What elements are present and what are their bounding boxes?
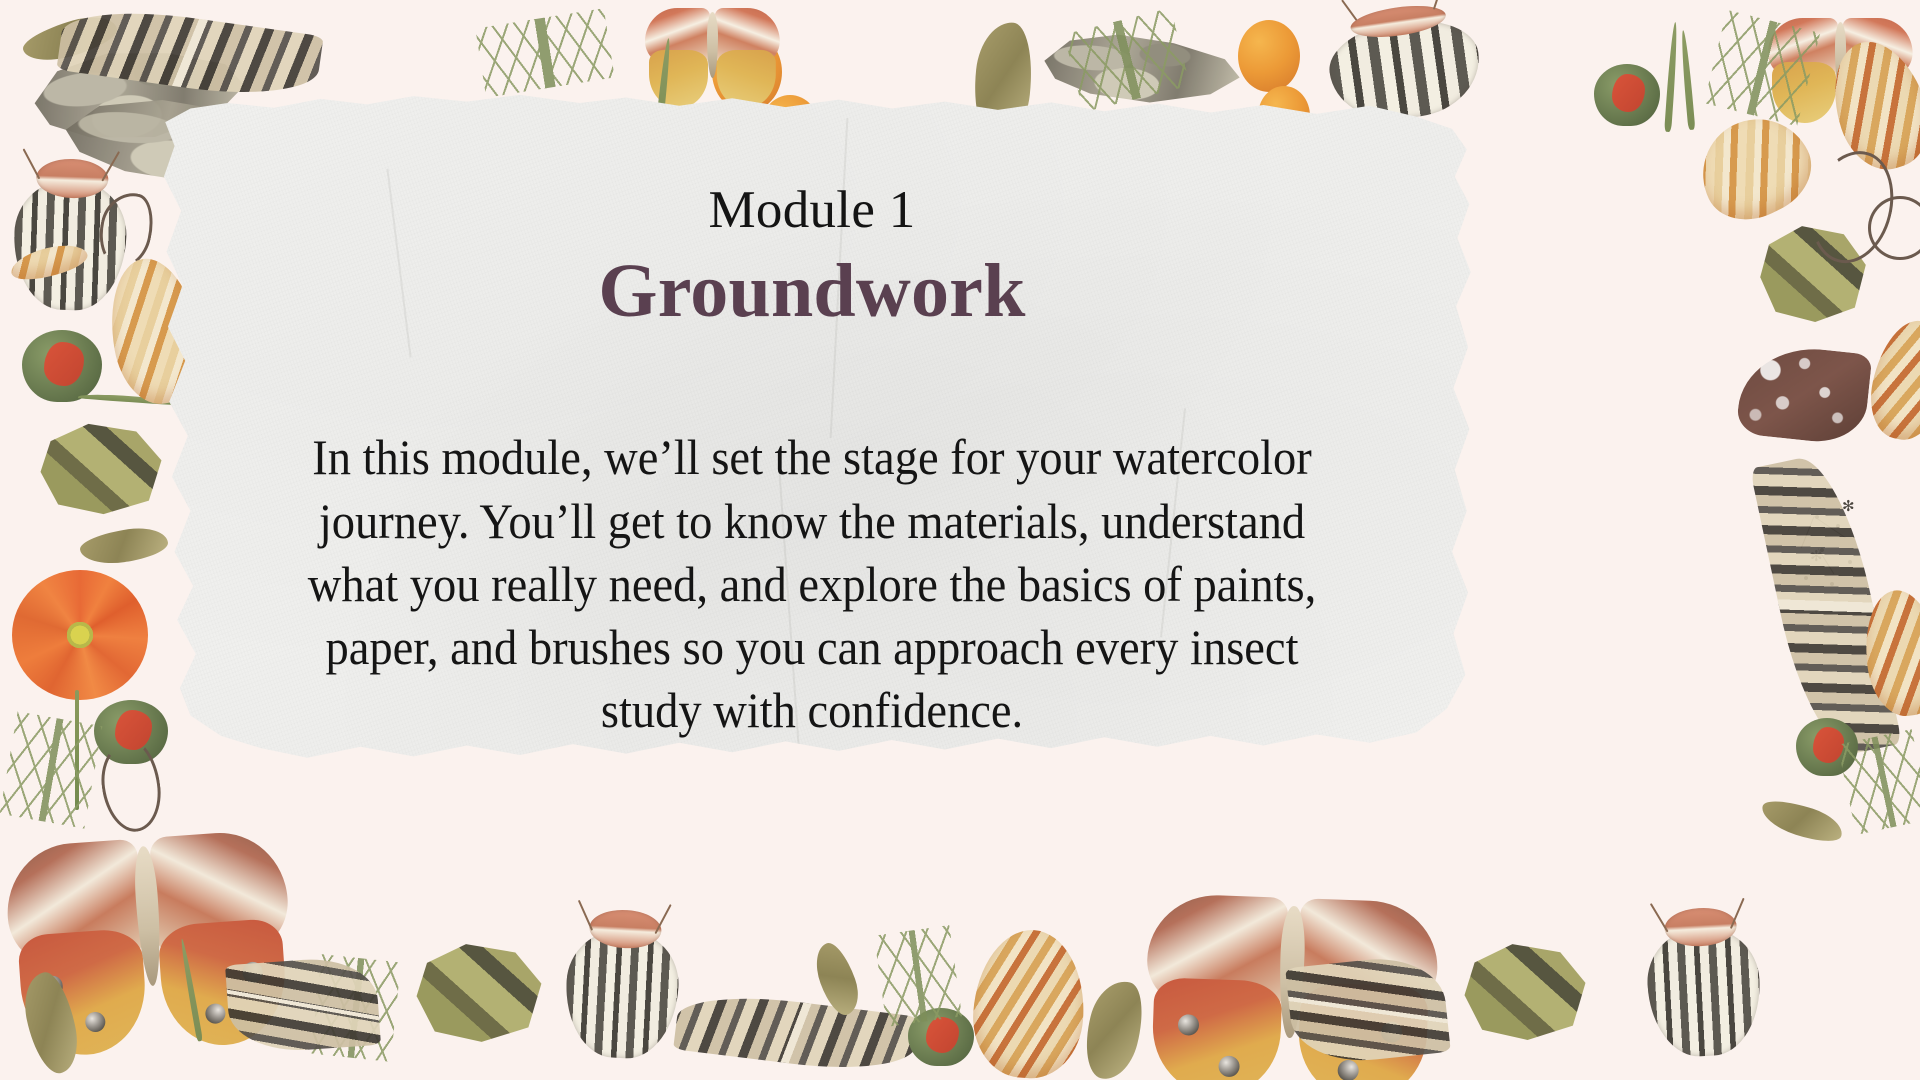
olive-mineral-rock-icon: [414, 940, 544, 1044]
rosehip-bud-icon: [22, 330, 102, 402]
fern-sprig-icon: [1837, 729, 1920, 835]
fern-sprig-icon: [874, 925, 962, 1027]
fern-sprig-icon: [0, 711, 102, 828]
fern-sprig-icon: [475, 8, 614, 97]
paper-card: Module 1 Groundwork In this module, we’l…: [148, 88, 1476, 770]
barred-feather-icon: [1285, 952, 1451, 1068]
orange-berry-icon: [1238, 20, 1300, 92]
grass-blade-icon: [1680, 30, 1696, 130]
page-title: Groundwork: [598, 251, 1025, 332]
olive-mineral-rock-icon: [38, 420, 164, 516]
barred-feather-icon: [225, 955, 381, 1055]
seed-pod-icon: [1757, 794, 1846, 848]
olive-mineral-rock-icon: [1462, 940, 1588, 1042]
speckled-moth-wing-icon: [1736, 342, 1873, 447]
card-content: Module 1 Groundwork In this module, we’l…: [148, 88, 1476, 770]
grass-blade-icon: [1664, 22, 1679, 132]
rosehip-bud-icon: [1594, 64, 1660, 126]
seed-pod-icon: [78, 524, 170, 568]
orange-poppy-icon: [12, 570, 148, 700]
seed-pod-icon: [1077, 975, 1152, 1080]
slide-canvas: ✻ ✻: [0, 0, 1920, 1080]
module-description: In this module, we’ll set the stage for …: [287, 426, 1338, 742]
striped-beetle-icon: [1645, 925, 1764, 1059]
striped-cocoon-icon: [969, 926, 1089, 1080]
striped-beetle-icon: [563, 927, 682, 1061]
module-label: Module 1: [708, 184, 915, 237]
barred-feather-icon: [673, 988, 919, 1079]
striped-cocoon-icon: [1862, 314, 1920, 446]
